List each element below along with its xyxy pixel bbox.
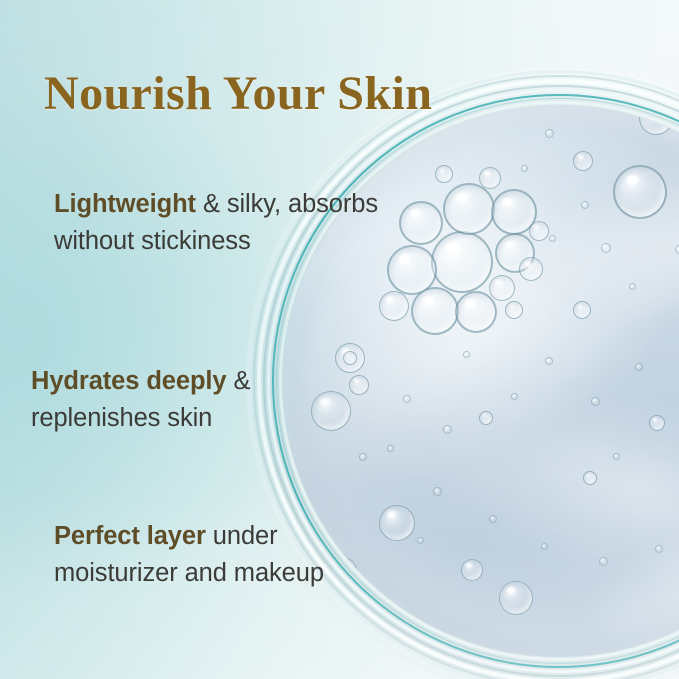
infographic-canvas: Nourish Your Skin Lightweight & silky, a… [0, 0, 679, 679]
gel-bubble [433, 487, 442, 496]
gel-bubble [479, 411, 493, 425]
feature-item-1: Lightweight & silky, absorbs without sti… [54, 186, 384, 260]
gel-streak [572, 489, 679, 657]
gel-bubble [613, 453, 620, 460]
gel-bubble [629, 283, 636, 290]
gel-bubble [403, 395, 411, 403]
gel-bubble [411, 287, 459, 335]
gel-bubble [435, 165, 453, 183]
feature-1-lead: Lightweight [54, 190, 196, 218]
gel-bubble [573, 151, 593, 171]
gel-bubble [431, 231, 493, 293]
gel-bubble [573, 301, 591, 319]
gel-bubble [417, 537, 424, 544]
gel-bubble [541, 543, 548, 550]
feature-item-3: Perfect layer under moisturizer and make… [54, 518, 384, 592]
gel-bubble [359, 453, 367, 461]
gel-bubble [463, 351, 470, 358]
gel-bubble [461, 559, 483, 581]
gel-bubble [443, 183, 495, 235]
gel-bubble [379, 291, 409, 321]
page-title: Nourish Your Skin [44, 66, 432, 121]
gel-bubble [519, 257, 543, 281]
gel-bubble [379, 505, 415, 541]
gel-bubble [479, 167, 501, 189]
gel-bubble [521, 165, 528, 172]
gel-streak [533, 145, 679, 345]
gel-bubble [545, 357, 553, 365]
gel-bubble [675, 245, 679, 254]
gel-bubble [549, 235, 556, 242]
gel-bubble [529, 221, 549, 241]
gel-bubble [443, 425, 452, 434]
feature-item-2: Hydrates deeply & replenishes skin [31, 363, 361, 437]
gel-bubble [399, 201, 443, 245]
gel-bubble [499, 581, 533, 615]
gel-bubble [495, 233, 535, 273]
gel-bubble [455, 291, 497, 333]
gel-bubble [489, 275, 515, 301]
gel-bubble [583, 471, 597, 485]
gel-bubble [545, 129, 554, 138]
gel-bubble [581, 201, 589, 209]
gel-bubble [489, 515, 497, 523]
feature-3-lead: Perfect layer [54, 522, 206, 550]
gel-bubble [387, 245, 437, 295]
gel-bubble [649, 415, 665, 431]
feature-2-lead: Hydrates deeply [31, 367, 227, 395]
gel-bubble [505, 301, 523, 319]
gel-bubble [655, 545, 663, 553]
gel-bubble [511, 393, 518, 400]
gel-bubble [635, 363, 643, 371]
gel-bubble [599, 557, 608, 566]
gel-streak [419, 357, 679, 624]
gel-bubble [491, 189, 537, 235]
gel-bubble [591, 397, 600, 406]
gel-bubble [387, 445, 394, 452]
gel-bubble [639, 105, 673, 135]
gel-bubble [613, 165, 667, 219]
gel-bubble [383, 129, 401, 147]
gel-bubble [601, 243, 611, 253]
